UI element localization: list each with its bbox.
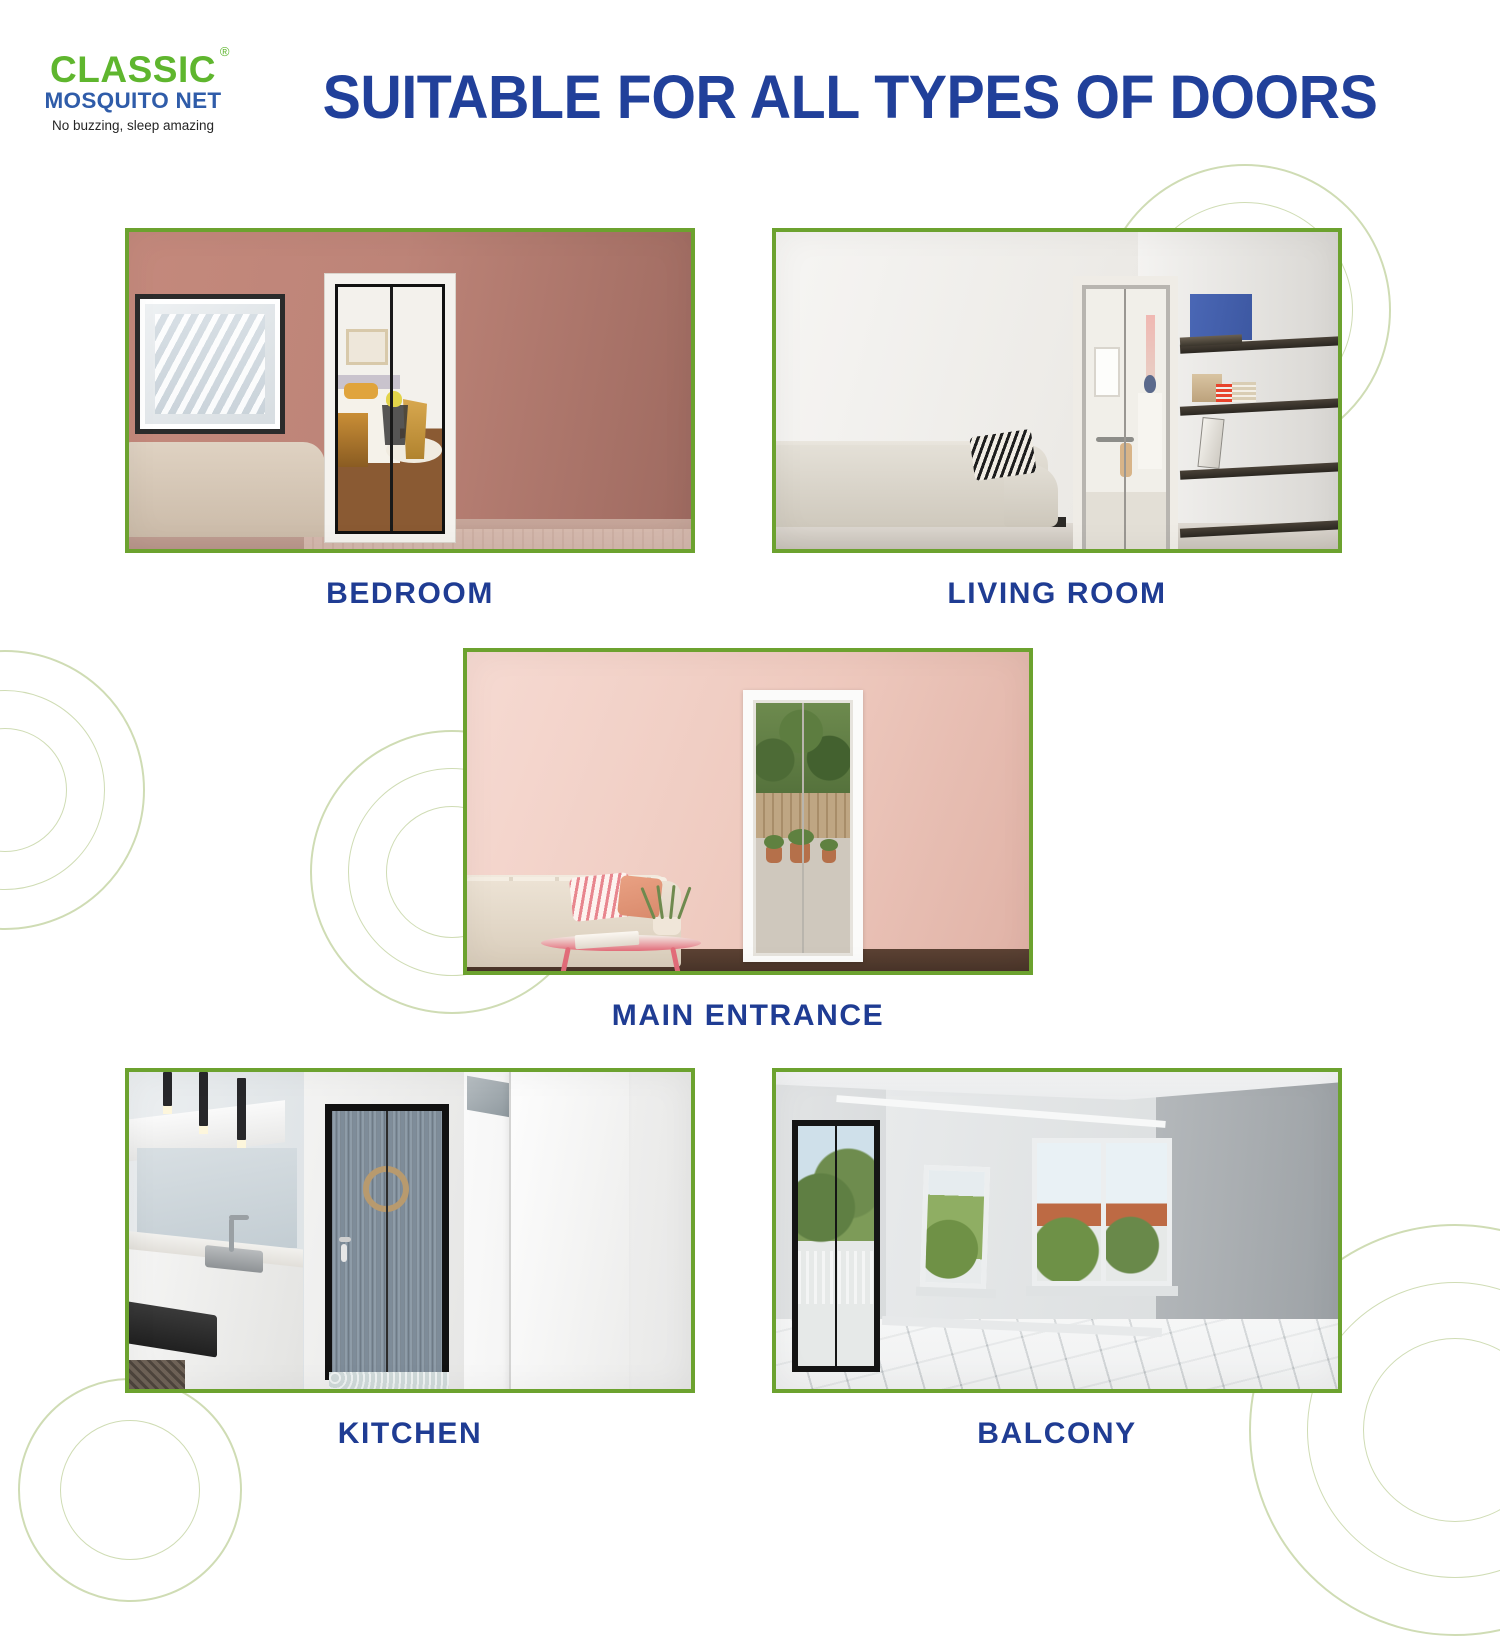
main-entrance-plant-leaf bbox=[669, 885, 676, 919]
kitchen-faucet bbox=[229, 1218, 234, 1252]
balcony-screen-center-seam bbox=[835, 1126, 837, 1366]
kitchen-door-handle bbox=[341, 1244, 347, 1262]
living-room-screen-center-seam bbox=[1124, 289, 1126, 549]
kitchen-pendant-light bbox=[237, 1078, 246, 1140]
registered-mark-icon: ® bbox=[220, 46, 230, 58]
card-bedroom: BEDROOM bbox=[125, 228, 695, 611]
main-entrance-potted-plants bbox=[762, 833, 850, 863]
brand-tagline: No buzzing, sleep amazing bbox=[38, 115, 228, 137]
balcony-window-large-mullion bbox=[1101, 1143, 1106, 1281]
kitchen-entry-tiles bbox=[329, 1372, 449, 1393]
scene-living-room bbox=[776, 232, 1338, 549]
kitchen-door-lock bbox=[339, 1237, 351, 1242]
living-room-red-object bbox=[1216, 384, 1232, 402]
decorative-ring bbox=[0, 650, 145, 930]
bedroom-picture-art bbox=[155, 314, 265, 414]
kitchen-pendant-light bbox=[163, 1072, 172, 1106]
bedroom-side-table bbox=[382, 405, 408, 445]
kitchen-pendant-light bbox=[199, 1072, 208, 1126]
main-entrance-outdoor-plant bbox=[820, 839, 838, 851]
card-main-entrance: MAIN ENTRANCE bbox=[463, 648, 1033, 1033]
brand-name-classic: CLASSIC ® bbox=[50, 52, 216, 87]
kitchen-granite-edge bbox=[125, 1360, 185, 1393]
brand-name-mosquito-net: MOSQUITO NET bbox=[38, 87, 228, 115]
card-living-room: LIVING ROOM bbox=[772, 228, 1342, 611]
kitchen-faucet-spout bbox=[229, 1215, 249, 1220]
card-kitchen-image bbox=[125, 1068, 695, 1393]
main-entrance-mosquito-net-screen bbox=[756, 703, 850, 953]
card-bedroom-image bbox=[125, 228, 695, 553]
living-room-inner-wall-art bbox=[1146, 315, 1155, 383]
living-room-inner-window bbox=[1094, 347, 1120, 397]
bedroom-picture-mat bbox=[145, 304, 275, 424]
scene-main-entrance bbox=[467, 652, 1029, 971]
page-header: CLASSIC ® MOSQUITO NET No buzzing, sleep… bbox=[0, 0, 1500, 175]
kitchen-pendant-glow bbox=[163, 1106, 172, 1114]
kitchen-refrigerator-seam bbox=[509, 1072, 511, 1393]
card-label-main-entrance: MAIN ENTRANCE bbox=[463, 999, 1033, 1033]
kitchen-screen-center-seam bbox=[386, 1111, 388, 1373]
balcony-window-small bbox=[920, 1165, 990, 1289]
card-label-balcony: BALCONY bbox=[772, 1417, 1342, 1451]
decorative-ring bbox=[1363, 1338, 1500, 1522]
main-entrance-screen-center-seam bbox=[802, 703, 804, 953]
kitchen-backsplash bbox=[137, 1148, 297, 1248]
balcony-window-large-sill bbox=[1026, 1286, 1178, 1296]
bedroom-sofa bbox=[125, 442, 325, 537]
kitchen-pendant-glow bbox=[237, 1140, 246, 1148]
bedroom-mosquito-net-screen bbox=[338, 287, 442, 531]
bedroom-screen-center-seam bbox=[390, 287, 393, 531]
living-room-vase bbox=[1144, 375, 1156, 393]
main-entrance-outdoor-pot bbox=[766, 847, 782, 863]
scene-kitchen bbox=[129, 1072, 691, 1389]
card-balcony: BALCONY bbox=[772, 1068, 1342, 1451]
scene-balcony bbox=[776, 1072, 1338, 1389]
main-entrance-outdoor-pot bbox=[822, 849, 836, 863]
page-title: SUITABLE FOR ALL TYPES OF DOORS bbox=[286, 62, 1414, 132]
main-entrance-plant bbox=[649, 885, 685, 927]
living-room-pedestal bbox=[1138, 393, 1162, 469]
kitchen-pendant-glow bbox=[199, 1126, 208, 1134]
bedroom-flower-vase bbox=[386, 391, 402, 407]
living-room-box-2 bbox=[1232, 382, 1256, 402]
living-room-mosquito-net-screen bbox=[1086, 289, 1166, 549]
card-label-living-room: LIVING ROOM bbox=[772, 577, 1342, 611]
balcony-mosquito-net-screen bbox=[798, 1126, 874, 1366]
bedroom-wall-picture-frame bbox=[135, 294, 285, 434]
card-kitchen: KITCHEN bbox=[125, 1068, 695, 1451]
main-entrance-outdoor-pot bbox=[790, 843, 810, 863]
card-label-bedroom: BEDROOM bbox=[125, 577, 695, 611]
decorative-ring bbox=[0, 728, 67, 852]
living-room-handrail bbox=[1096, 437, 1134, 442]
kitchen-refrigerator bbox=[509, 1072, 629, 1393]
card-living-room-image bbox=[772, 228, 1342, 553]
bedroom-inner-picture bbox=[346, 329, 388, 365]
balcony-window-small-glass bbox=[925, 1170, 985, 1284]
main-entrance-outdoor-plant bbox=[788, 829, 814, 845]
bedroom-pillow bbox=[344, 383, 378, 399]
bedroom-throw-blanket bbox=[338, 413, 368, 467]
balcony-window-large bbox=[1032, 1138, 1172, 1286]
card-main-entrance-image bbox=[463, 648, 1033, 975]
card-balcony-image bbox=[772, 1068, 1342, 1393]
brand-classic-text: CLASSIC bbox=[50, 49, 216, 90]
main-entrance-outdoor-plant bbox=[764, 835, 784, 849]
living-room-blue-panel bbox=[1190, 294, 1252, 340]
scene-bedroom bbox=[129, 232, 691, 549]
living-room-zebra-pillow bbox=[969, 429, 1037, 481]
decorative-ring bbox=[0, 690, 105, 890]
card-label-kitchen: KITCHEN bbox=[125, 1417, 695, 1451]
brand-logo: CLASSIC ® MOSQUITO NET No buzzing, sleep… bbox=[38, 52, 228, 137]
main-entrance-plant-leaf bbox=[656, 885, 664, 919]
